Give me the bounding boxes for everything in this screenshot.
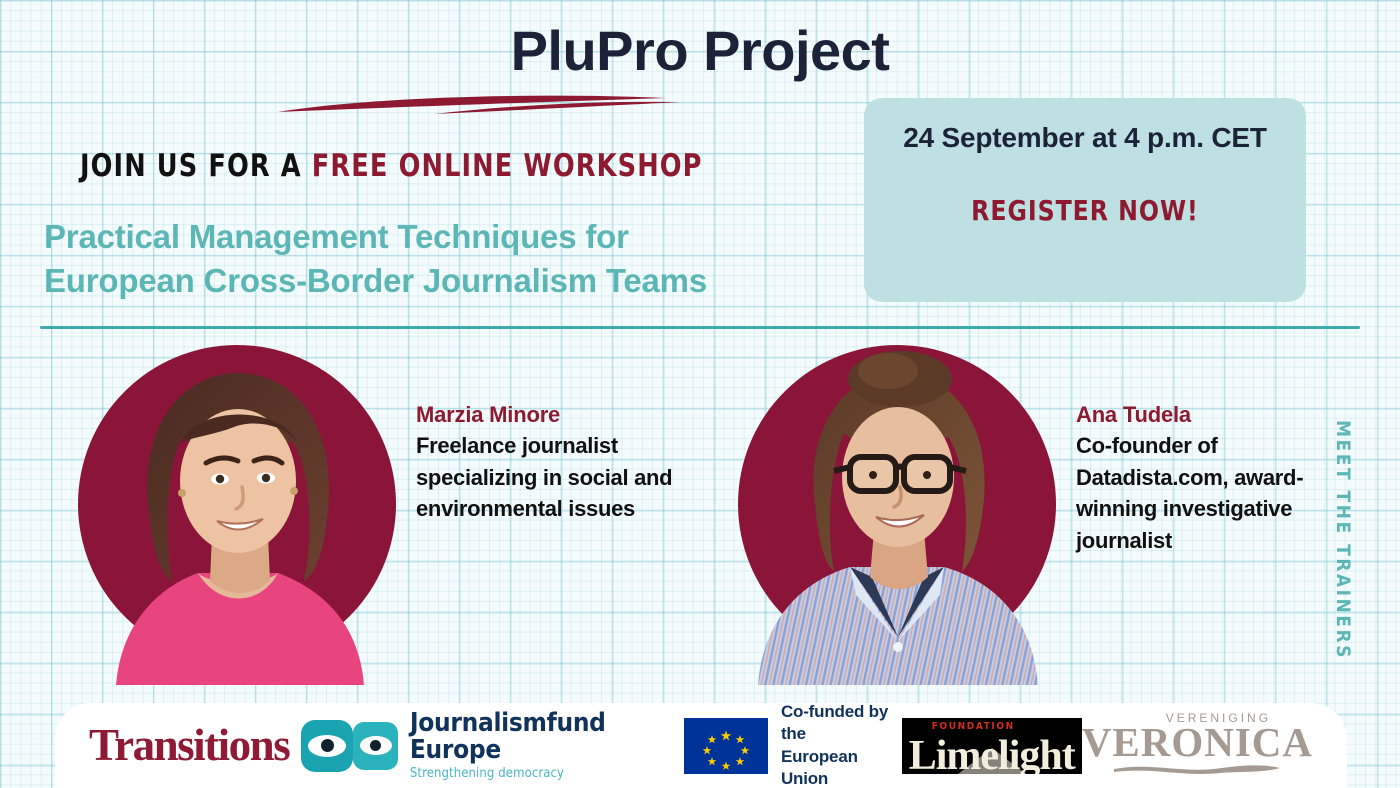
trainer-info-marzia-minore: Marzia Minore Freelance journalist speci… xyxy=(416,400,706,525)
workshop-headline: Practical Management Techniques for Euro… xyxy=(44,215,844,302)
eu-text-line-2: European Union xyxy=(781,746,902,788)
poster-canvas: PluPro Project JOIN US FOR A FREE ONLINE… xyxy=(0,0,1400,788)
limelight-wordmark: Limelight xyxy=(909,737,1075,774)
logo-foundation-limelight: FOUNDATION Limelight xyxy=(902,718,1082,774)
page-title: PluPro Project xyxy=(0,22,1400,81)
trainer-name: Marzia Minore xyxy=(416,400,706,430)
trainer-role: Freelance journalist specializing in soc… xyxy=(416,430,706,526)
logo-journalismfund-europe: Journalismfund Europe Strengthening demo… xyxy=(353,710,684,782)
transitions-eye-icon xyxy=(301,720,353,772)
join-us-line: JOIN US FOR A FREE ONLINE WORKSHOP xyxy=(80,148,703,184)
eu-flag-icon xyxy=(684,718,768,774)
logo-vereniging-veronica: VERENIGING VERONICA xyxy=(1082,712,1313,779)
journalismfund-eye-icon xyxy=(353,722,398,770)
eu-text-line-1: Co-funded by the xyxy=(781,701,902,745)
eye-pupil xyxy=(370,740,381,751)
trainer-info-ana-tudela: Ana Tudela Co-founder of Datadista.com, … xyxy=(1076,400,1366,557)
logo-transitions: Transitions xyxy=(89,720,353,772)
portrait-marzia-minore xyxy=(78,345,396,685)
veronica-swoosh-icon xyxy=(1112,761,1282,775)
limelight-badge: FOUNDATION Limelight xyxy=(902,718,1082,774)
trainer-role: Co-founder of Datadista.com, award-winni… xyxy=(1076,430,1366,558)
eye-pupil xyxy=(321,739,334,752)
register-now-cta[interactable]: REGISTER NOW! xyxy=(896,194,1274,227)
event-info-card: 24 September at 4 p.m. CET REGISTER NOW! xyxy=(864,98,1306,302)
section-divider xyxy=(40,326,1360,329)
headline-line-1: Practical Management Techniques for xyxy=(44,215,844,259)
trainer-name: Ana Tudela xyxy=(1076,400,1366,430)
join-us-accent: FREE ONLINE WORKSHOP xyxy=(312,148,703,184)
trainer-avatar-marzia-minore xyxy=(78,345,396,663)
portrait-ana-tudela xyxy=(738,345,1056,685)
transitions-wordmark: Transitions xyxy=(89,723,289,768)
sponsor-logo-bar: Transitions Journalismfund Europe Streng… xyxy=(55,703,1347,788)
meet-the-trainers-label: MEET THE TRAINERS xyxy=(1332,420,1354,660)
eu-funding-text: Co-funded by the European Union xyxy=(781,701,902,788)
eye-sclera xyxy=(360,736,392,755)
limelight-kicker: FOUNDATION xyxy=(932,721,1015,732)
logo-european-union: Co-funded by the European Union xyxy=(684,701,902,788)
trainer-avatar-ana-tudela xyxy=(738,345,1056,663)
event-datetime: 24 September at 4 p.m. CET xyxy=(884,120,1286,156)
journalismfund-wordmark: Journalismfund Europe xyxy=(410,708,606,765)
eye-sclera xyxy=(308,735,346,757)
headline-line-2: European Cross-Border Journalism Teams xyxy=(44,259,844,303)
veronica-wordmark: VERONICA xyxy=(1082,722,1313,763)
journalismfund-tagline: Strengthening democracy xyxy=(410,766,684,781)
title-underline-swoosh xyxy=(274,88,684,116)
join-us-prefix: JOIN US FOR A xyxy=(80,148,312,184)
